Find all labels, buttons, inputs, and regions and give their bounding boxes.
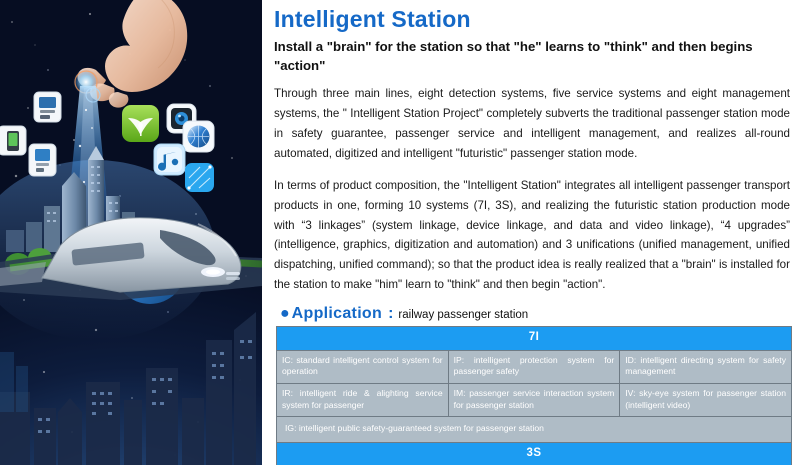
table-cell-iv: IV: sky-eye system for passenger station…	[620, 383, 792, 416]
table-cell-id: ID: intelligent directing system for saf…	[620, 350, 792, 383]
kiosk-terminal-icon	[29, 144, 56, 176]
table-row: IG: intelligent public safety-guaranteed…	[277, 417, 792, 443]
globe-icon	[183, 121, 214, 152]
page-subtitle: Install a "brain" for the station so tha…	[274, 38, 786, 75]
table-cell-im: IM: passenger service interaction system…	[448, 383, 620, 416]
distant-skyline	[0, 352, 28, 412]
table-row: IC: standard intelligent control system …	[277, 350, 792, 383]
mobile-phone-icon	[0, 126, 26, 155]
table-cell-ic: IC: standard intelligent control system …	[277, 350, 449, 383]
section-header-7i: 7I	[277, 327, 792, 351]
ticket-machine-icon	[34, 92, 61, 122]
application-heading: ●Application:railway passenger station	[280, 305, 792, 323]
application-colon: :	[388, 305, 393, 323]
network-grid-icon	[185, 163, 214, 192]
table-row-header-3s: 3S	[277, 443, 792, 465]
content-panel: Intelligent Station Install a "brain" fo…	[262, 0, 800, 465]
application-label: Application	[292, 305, 382, 323]
table-cell-ig: IG: intelligent public safety-guaranteed…	[277, 417, 792, 443]
table-cell-ir: IR: intelligent ride & alighting service…	[277, 383, 449, 416]
section-header-3s: 3S	[277, 443, 792, 465]
body-paragraph-2: In terms of product composition, the "In…	[274, 176, 790, 296]
table-cell-ip: IP: intelligent protection system for pa…	[448, 350, 620, 383]
hero-illustration	[0, 0, 262, 465]
body-paragraph-1: Through three main lines, eight detectio…	[274, 84, 790, 164]
table-row-header-7i: 7I	[277, 327, 792, 351]
systems-table: 7I IC: standard intelligent control syst…	[276, 326, 792, 465]
bullet-icon: ●	[280, 306, 290, 322]
page-title: Intelligent Station	[274, 6, 792, 32]
illustration-graphics	[0, 0, 262, 465]
music-note-icon	[154, 144, 185, 175]
application-value: railway passenger station	[398, 309, 528, 321]
table-row: IR: intelligent ride & alighting service…	[277, 383, 792, 416]
slide-page: Intelligent Station Install a "brain" fo…	[0, 0, 800, 465]
green-leaf-icon	[122, 105, 159, 142]
